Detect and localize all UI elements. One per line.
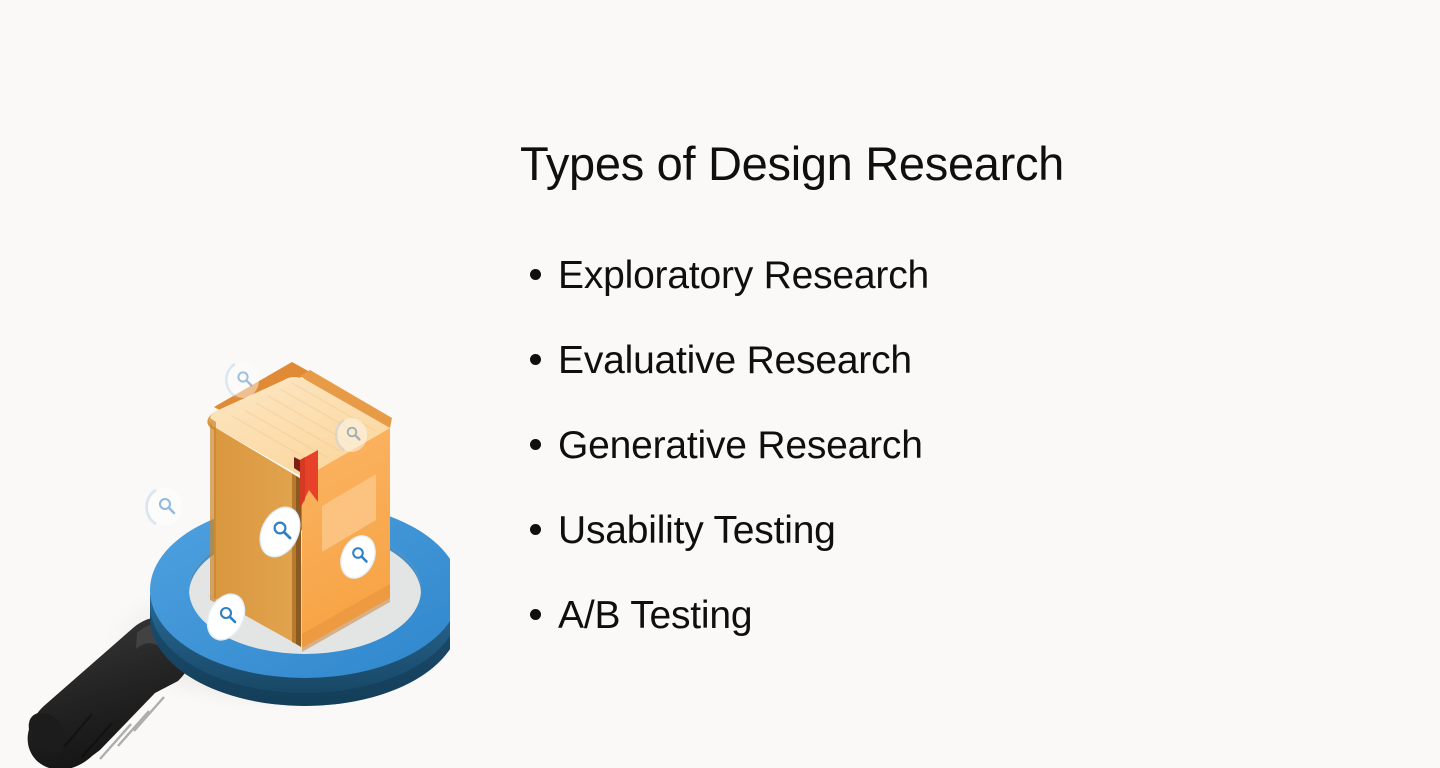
list-item: Exploratory Research <box>520 254 1340 339</box>
bullet-dot-icon <box>530 439 541 450</box>
slide-root: Types of Design Research Exploratory Res… <box>0 0 1440 768</box>
list-item: Usability Testing <box>520 509 1340 594</box>
list-item-label: Usability Testing <box>558 509 836 553</box>
bullet-dot-icon <box>530 524 541 535</box>
bullet-dot-icon <box>530 609 541 620</box>
list-item-label: A/B Testing <box>558 594 752 638</box>
bullet-dot-icon <box>530 354 541 365</box>
research-types-list: Exploratory Research Evaluative Research… <box>520 254 1340 679</box>
page-title: Types of Design Research <box>520 136 1340 192</box>
book-spine-highlight <box>210 418 216 603</box>
magnifier-badge-upper-right <box>336 418 367 452</box>
illustration-book-magnifier <box>0 350 450 768</box>
magnifier-badge-left <box>147 488 182 526</box>
list-item: Evaluative Research <box>520 339 1340 424</box>
book-bookmark-shade <box>300 457 305 508</box>
bullet-dot-icon <box>530 269 541 280</box>
list-item: Generative Research <box>520 424 1340 509</box>
magnifier-badge-top <box>226 362 259 398</box>
content-column: Types of Design Research Exploratory Res… <box>520 136 1340 679</box>
list-item-label: Evaluative Research <box>558 339 912 383</box>
book-seam-line-inner <box>292 474 296 644</box>
list-item-label: Generative Research <box>558 424 923 468</box>
list-item-label: Exploratory Research <box>558 254 929 298</box>
list-item: A/B Testing <box>520 594 1340 679</box>
